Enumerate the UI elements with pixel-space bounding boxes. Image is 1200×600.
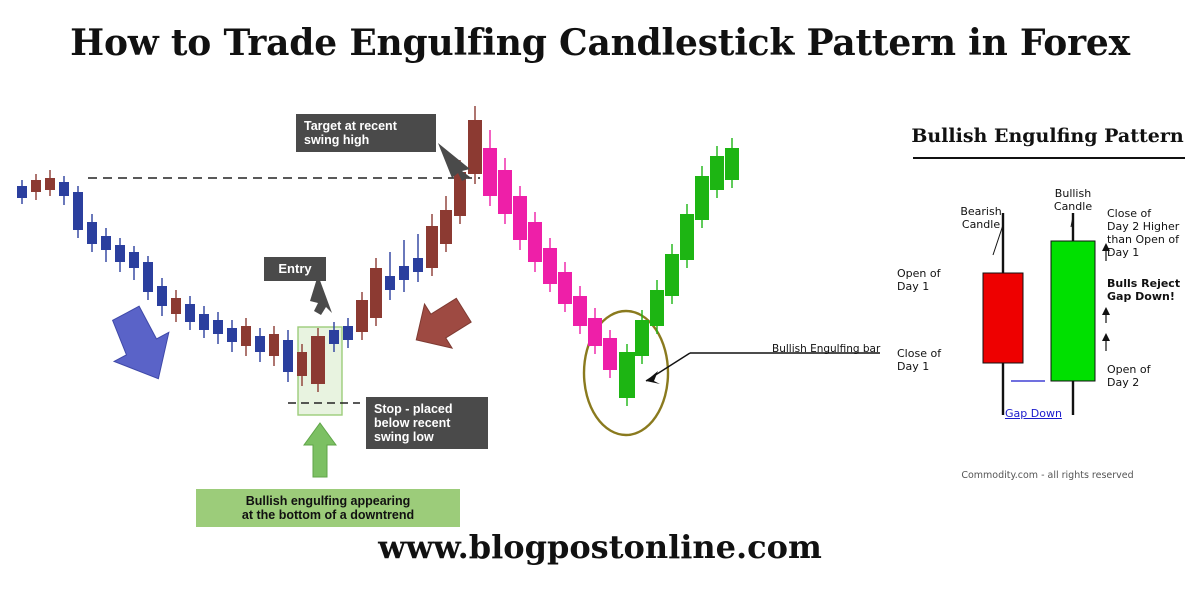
callout-stop-line2: below recent: [374, 416, 450, 430]
bulls-reject-l1: Bulls Reject: [1107, 277, 1180, 290]
close-higher-l2: Day 2 Higher: [1107, 220, 1179, 233]
engulfing-leader-line: [646, 353, 880, 384]
bearish-candle-l1: Bearish: [960, 205, 1001, 218]
candlestick-svg: [0, 85, 900, 515]
callout-target: Target at recent swing high: [296, 114, 436, 152]
open-day2-l2: Day 2: [1107, 376, 1139, 389]
entry-pointer-arrow: [310, 275, 332, 315]
close-higher-l4: Day 1: [1107, 246, 1139, 259]
callout-engulf-line1: Bullish engulfing appearing: [246, 494, 411, 508]
bulls-reject-l2: Gap Down!: [1107, 290, 1175, 303]
callout-entry: Entry: [264, 257, 326, 281]
label-close-day1: Close of Day 1: [897, 347, 955, 373]
close-higher-l3: than Open of: [1107, 233, 1179, 246]
label-gap-down: Gap Down: [1005, 407, 1062, 420]
callout-target-line1: Target at recent: [304, 119, 397, 133]
open-day1-l1: Open of: [897, 267, 940, 280]
day2-body: [1051, 241, 1095, 381]
callout-bullish-engulfing: Bullish engulfing appearing at the botto…: [196, 489, 460, 527]
callout-engulf-line2: at the bottom of a downtrend: [242, 508, 414, 522]
close-day1-l2: Day 1: [897, 360, 929, 373]
poster-root: How to Trade Engulfing Candlestick Patte…: [0, 0, 1200, 600]
close-day1-l1: Close of: [897, 347, 941, 360]
bulls-reject-arrow: [1102, 307, 1110, 315]
bullish-engulfing-diagram: Bullish Engulfing Pattern Bearish Candl: [895, 125, 1200, 505]
page-title: How to Trade Engulfing Candlestick Patte…: [0, 22, 1200, 64]
diagram-credit: Commodity.com - all rights reserved: [895, 470, 1200, 481]
callout-stop: Stop - placed below recent swing low: [366, 397, 488, 449]
label-open-day1: Open of Day 1: [897, 267, 955, 293]
candlestick-chart: Target at recent swing high Entry Stop -…: [0, 85, 900, 515]
day1-body: [983, 273, 1023, 363]
open-day2-l1: Open of: [1107, 363, 1150, 376]
label-bullish-engulfing-bar: Bullish Engulfing bar: [772, 343, 880, 355]
callout-stop-line3: swing low: [374, 430, 434, 444]
open-day1-l2: Day 1: [897, 280, 929, 293]
site-url: www.blogpostonline.com: [0, 528, 1200, 566]
bearish-candle-l2: Candle: [962, 218, 1000, 231]
open-day2-arrow: [1102, 333, 1110, 341]
bullish-candle-l1: Bullish: [1055, 187, 1091, 200]
close-higher-l1: Close of: [1107, 207, 1151, 220]
label-bulls-reject: Bulls Reject Gap Down!: [1107, 277, 1199, 303]
label-bearish-candle: Bearish Candle: [951, 205, 1011, 231]
label-open-day2: Open of Day 2: [1107, 363, 1187, 389]
diagram-title: Bullish Engulfing Pattern: [895, 125, 1200, 147]
callout-target-line2: swing high: [304, 133, 369, 147]
uptrend-arrow: [402, 288, 477, 362]
bullish-candle-l2: Candle: [1054, 200, 1092, 213]
diagram-rule: [913, 157, 1185, 159]
target-pointer-arrow: [438, 143, 470, 181]
callout-stop-line1: Stop - placed: [374, 402, 452, 416]
label-bullish-candle: Bullish Candle: [1043, 187, 1103, 213]
entry-up-arrow: [304, 423, 336, 477]
label-close-day2-higher: Close of Day 2 Higher than Open of Day 1: [1107, 207, 1199, 259]
